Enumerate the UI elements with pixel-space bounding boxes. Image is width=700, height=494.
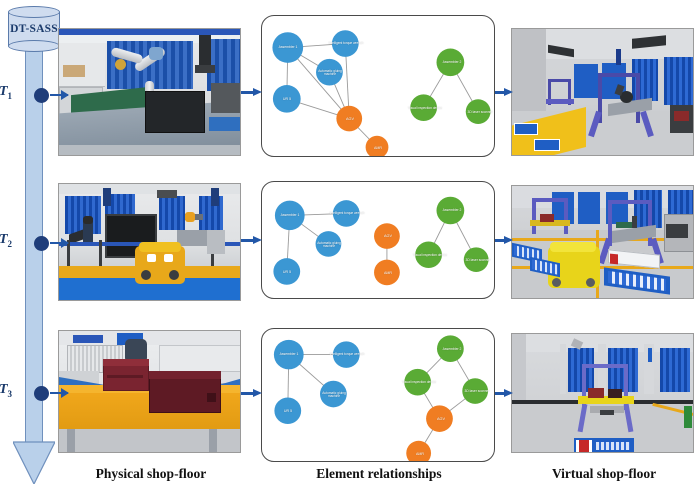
caption-element-relationships: Element relationships: [305, 466, 453, 482]
physical-photo-t1: [58, 28, 241, 156]
virtual-render-t1: [511, 28, 694, 156]
graph-panel-t2: Assembler 1 Intelligent torque wrench Au…: [261, 181, 495, 299]
timepoint-t2-arrow: [50, 242, 68, 245]
timepoint-t3-arrow: [50, 392, 68, 395]
timepoint-t1-dot: [34, 88, 49, 103]
graph-nodes-t1: [272, 30, 490, 156]
timepoint-t3-dot: [34, 386, 49, 401]
graph-panel-t1: Assembler 1 Intelligent torque wrench Au…: [261, 15, 495, 157]
dt-sass-label: DT-SASS: [8, 18, 60, 40]
graph-edges-t2: [262, 182, 494, 298]
physical-photo-t2: [58, 183, 241, 301]
dt-sass-cylinder-bottom: [8, 40, 60, 52]
virtual-render-t3: [511, 333, 694, 453]
timepoint-t1-label: T1: [0, 84, 12, 101]
caption-physical-shop-floor: Physical shop-floor: [78, 466, 224, 482]
timepoint-t1-arrow: [50, 94, 68, 97]
graph-edges-t3: [262, 329, 494, 461]
timepoint-t2-dot: [34, 236, 49, 251]
timeline-arrowhead: [13, 440, 55, 484]
arrow-physical-to-graph-t1: [241, 88, 261, 97]
timepoint-t2-label: T2: [0, 232, 12, 249]
arrow-physical-to-graph-t2: [241, 236, 261, 245]
dt-sass-cylinder-top: [8, 6, 60, 18]
physical-photo-t3: [58, 330, 241, 453]
arrow-graph-to-virtual-t3: [495, 389, 511, 398]
figure-canvas: DT-SASS T1 T2 T3: [0, 0, 700, 494]
graph-edges-t1: [262, 16, 494, 156]
timepoint-t3-label: T3: [0, 382, 12, 399]
graph-nodes-t2: [273, 197, 488, 285]
arrow-graph-to-virtual-t1: [495, 88, 511, 97]
arrow-physical-to-graph-t3: [241, 389, 261, 398]
arrow-graph-to-virtual-t2: [495, 236, 511, 245]
virtual-render-t2: [511, 185, 694, 299]
caption-virtual-shop-floor: Virtual shop-floor: [534, 466, 674, 482]
graph-panel-t3: Assembler 1 Intelligent torque wrench Au…: [261, 328, 495, 462]
